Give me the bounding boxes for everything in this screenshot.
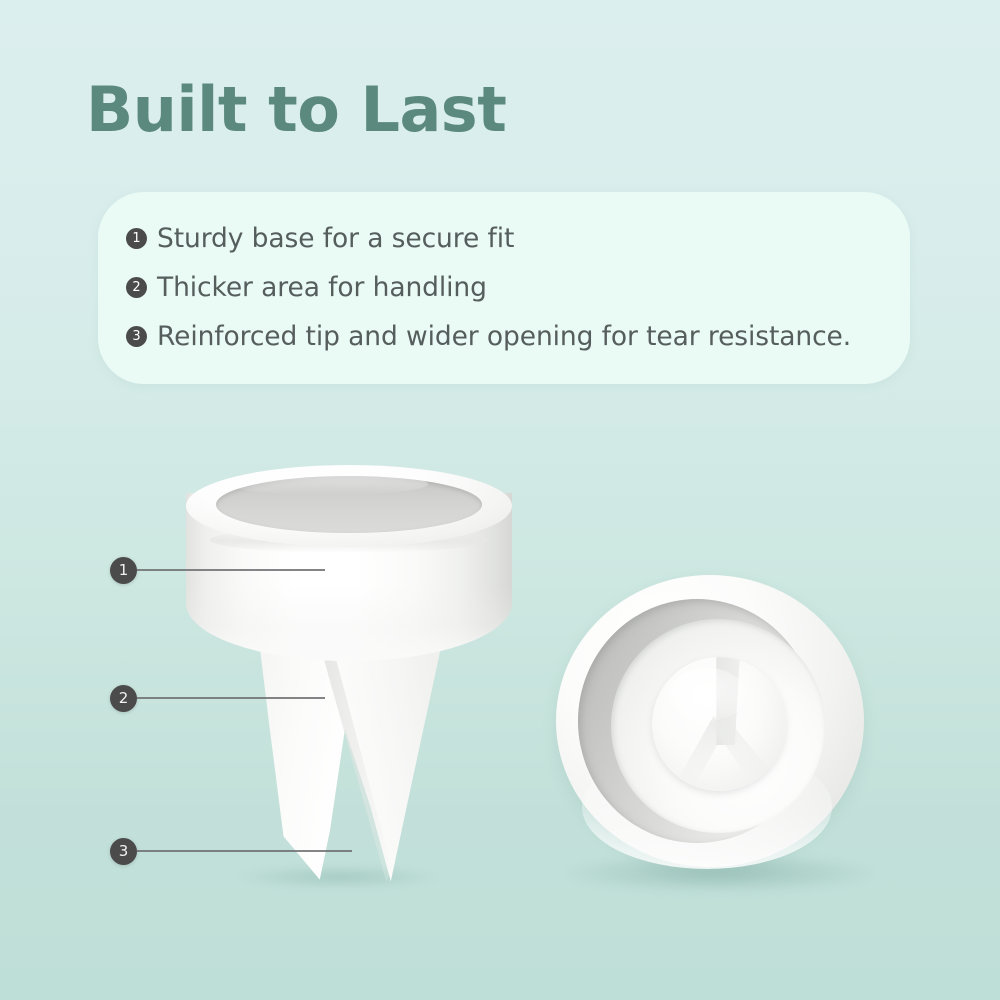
badge-number-1: 1 bbox=[126, 228, 147, 249]
valve-rim-highlight bbox=[228, 473, 428, 495]
list-item: 3 Reinforced tip and wider opening for t… bbox=[126, 312, 896, 361]
feature-text-3: Reinforced tip and wider opening for tea… bbox=[157, 321, 851, 352]
feature-card: 1 Sturdy base for a secure fit 2 Thicker… bbox=[98, 192, 910, 384]
feature-text-2: Thicker area for handling bbox=[157, 272, 487, 303]
callout-badge-1: 1 bbox=[110, 557, 137, 584]
list-item: 2 Thicker area for handling bbox=[126, 263, 896, 312]
callout-marker-1: 1 bbox=[110, 556, 325, 584]
callout-badge-3: 3 bbox=[110, 838, 137, 865]
cup-center-dome bbox=[652, 657, 786, 791]
callout-leader-line-3 bbox=[137, 850, 352, 851]
infographic-canvas: Built to Last 1 Sturdy base for a secure… bbox=[0, 0, 1000, 1000]
callout-badge-2: 2 bbox=[110, 685, 137, 712]
page-title: Built to Last bbox=[86, 74, 506, 146]
badge-number-3: 3 bbox=[126, 326, 147, 347]
list-item: 1 Sturdy base for a secure fit bbox=[126, 214, 896, 263]
product-image-valve-top-view bbox=[556, 575, 876, 895]
feature-text-1: Sturdy base for a secure fit bbox=[157, 223, 514, 254]
product-image-valve-upright bbox=[180, 465, 520, 895]
badge-number-2: 2 bbox=[126, 277, 147, 298]
dome-highlight bbox=[668, 668, 746, 722]
callout-leader-line-2 bbox=[137, 697, 325, 698]
callout-marker-3: 3 bbox=[110, 837, 352, 865]
callout-leader-line-1 bbox=[137, 569, 325, 570]
callout-marker-2: 2 bbox=[110, 684, 325, 712]
valve-base-lower-shading bbox=[186, 585, 512, 661]
feature-list: 1 Sturdy base for a secure fit 2 Thicker… bbox=[126, 214, 896, 361]
